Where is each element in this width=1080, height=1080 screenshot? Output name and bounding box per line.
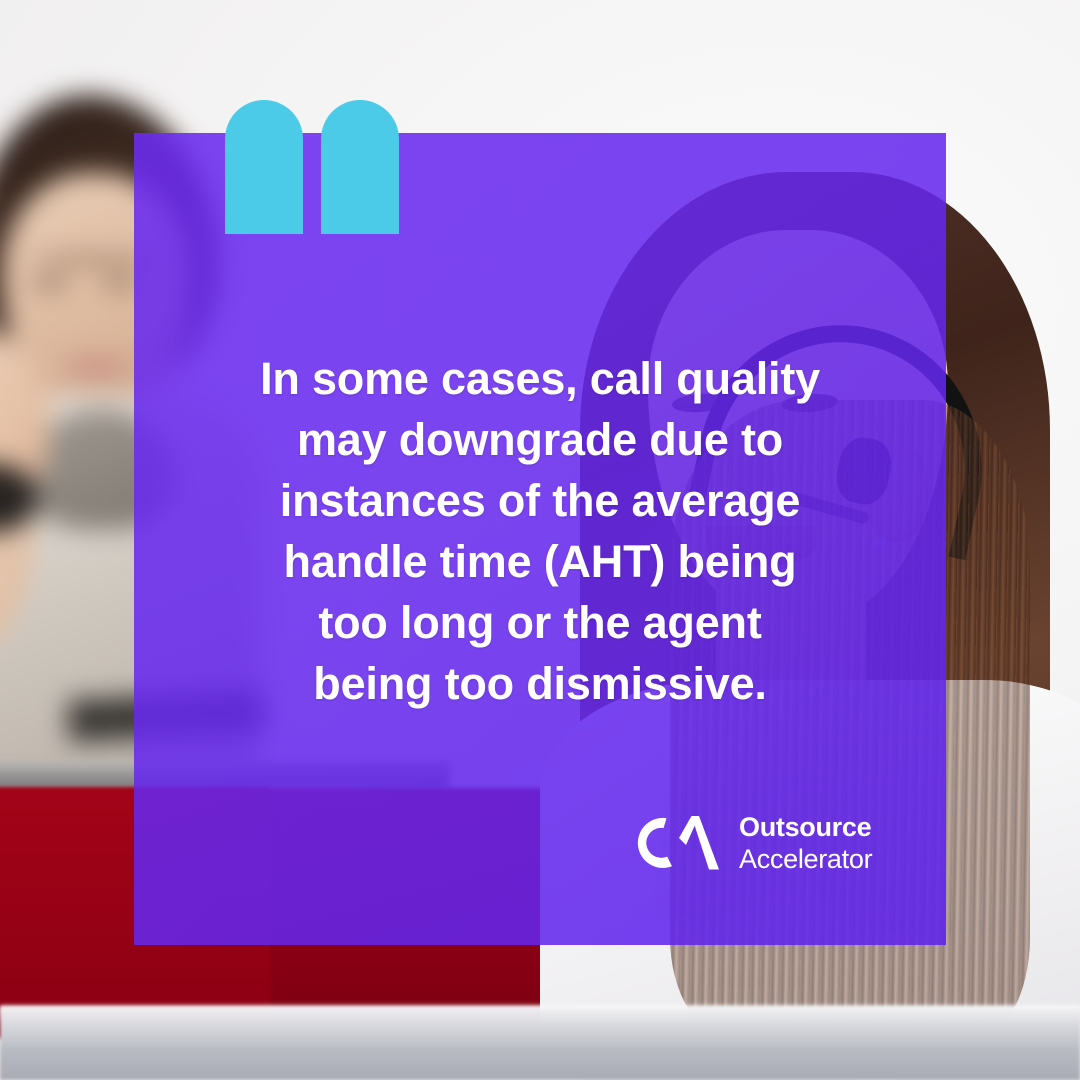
social-quote-card: In some cases, call quality may downgrad…: [0, 0, 1080, 1080]
quote-stem-left: [225, 162, 303, 234]
desk-front-edge: [0, 1006, 1080, 1080]
quote-open-icon: [225, 100, 399, 234]
quote-text-block: In some cases, call quality may downgrad…: [168, 348, 912, 714]
quote-stem-right: [321, 162, 399, 234]
quote-line-5: too long or the agent: [168, 592, 912, 653]
quote-counter-right: [355, 130, 403, 166]
blurred-colleague-lips: [64, 357, 126, 376]
quote-line-1: In some cases, call quality: [168, 348, 912, 409]
outsource-accelerator-monogram-icon: [636, 812, 720, 874]
brand-name-line2: Accelerator: [739, 846, 872, 873]
quote-line-6: being too dismissive.: [168, 653, 912, 714]
quote-glyph-right: [321, 100, 399, 234]
brand-wordmark: Outsource Accelerator: [739, 814, 872, 873]
blurred-colleague-left-eye: [30, 277, 70, 289]
quote-line-2: may downgrade due to: [168, 409, 912, 470]
quote-counter-left: [259, 130, 307, 166]
quote-line-4: handle time (AHT) being: [168, 531, 912, 592]
brand-name-line1: Outsource: [739, 814, 872, 841]
quote-line-3: instances of the average: [168, 470, 912, 531]
quote-glyph-left: [225, 100, 303, 234]
brand-logo: Outsource Accelerator: [636, 812, 872, 874]
